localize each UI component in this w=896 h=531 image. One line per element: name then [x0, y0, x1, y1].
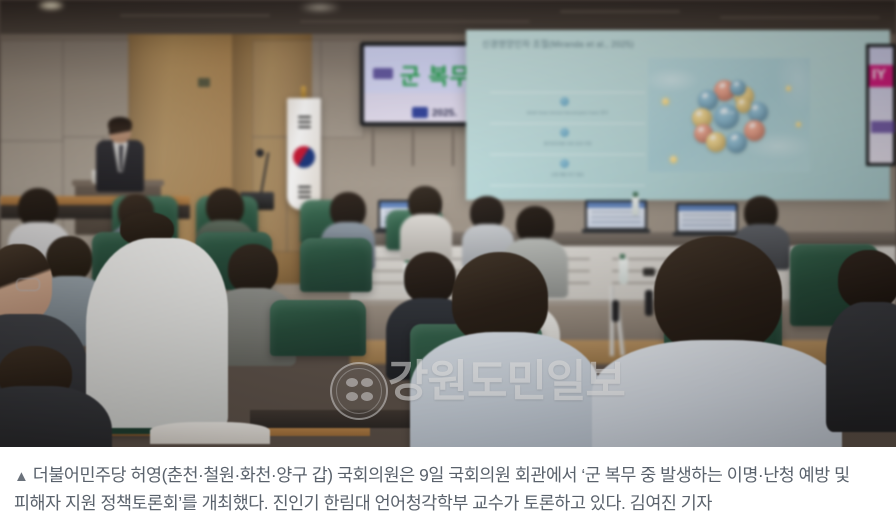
watermark-text: 강원도민일보: [388, 360, 625, 404]
newspaper-logo-icon: [330, 362, 388, 420]
documents: [150, 422, 270, 444]
photo-caption: ▲ 더불어민주당 허영(춘천·철원·화천·양구 갑) 국회의원은 9일 국회의원…: [0, 447, 896, 531]
auditorium-seat: [270, 300, 366, 356]
news-photo-page: 군 복무 2025. 신경영양인자 조절(Miranda et al., 202…: [0, 0, 896, 531]
eyeglasses-icon: [16, 278, 40, 291]
press-conference-photo: 군 복무 2025. 신경영양인자 조절(Miranda et al., 202…: [0, 0, 896, 447]
newspaper-watermark: 강원도민일보: [330, 358, 598, 420]
caption-text: 더불어민주당 허영(춘천·철원·화천·양구 갑) 국회의원은 9일 국회의원 회…: [14, 465, 850, 513]
caption-marker-icon: ▲: [14, 468, 28, 485]
